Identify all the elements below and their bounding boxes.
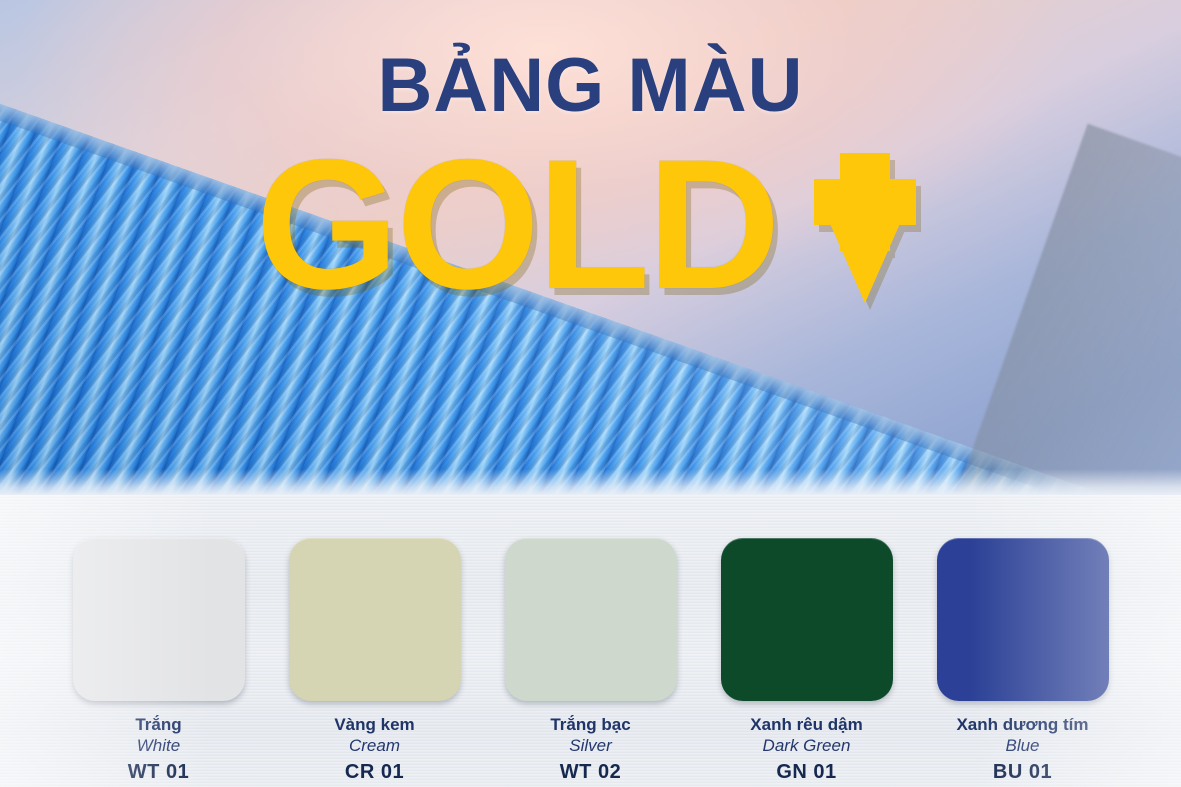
swatch-labels: Vàng kem Cream CR 01: [334, 714, 414, 784]
swatch-item[interactable]: Xanh rêu dậm Dark Green GN 01: [721, 538, 893, 784]
swatch-code: BU 01: [956, 761, 1088, 784]
swatch-panel: Trắng White WT 01 Vàng kem Cream CR 01 T…: [0, 495, 1181, 787]
color-chip[interactable]: [721, 538, 893, 701]
swatch-labels: Trắng bạc Silver WT 02: [550, 714, 630, 784]
swatch-code: WT 02: [550, 761, 630, 784]
color-chip[interactable]: [289, 538, 461, 701]
swatch-name-vi: Xanh dương tím: [956, 714, 1088, 735]
swatch-name-en: Blue: [956, 735, 1088, 757]
swatch-name-vi: Trắng: [128, 714, 189, 735]
swatch-name-en: Silver: [550, 735, 630, 757]
brand-title-row: GOLD: [0, 140, 1181, 310]
color-chip[interactable]: [937, 538, 1109, 701]
hero-bottom-fade: [0, 469, 1181, 495]
swatch-item[interactable]: Trắng White WT 01: [73, 538, 245, 784]
swatch-name-vi: Xanh rêu dậm: [750, 714, 862, 735]
gold-plus-cross-logo-icon: [804, 153, 926, 303]
color-chart-page: BẢNG MÀU GOLD Trắng: [0, 0, 1181, 787]
swatch-item[interactable]: Trắng bạc Silver WT 02: [505, 538, 677, 784]
swatch-labels: Trắng White WT 01: [128, 714, 189, 784]
swatch-name-en: Cream: [334, 735, 414, 757]
swatch-name-en: White: [128, 735, 189, 757]
swatch-code: WT 01: [128, 761, 189, 784]
swatch-name-en: Dark Green: [750, 735, 862, 757]
swatch-labels: Xanh rêu dậm Dark Green GN 01: [750, 714, 862, 784]
swatch-labels: Xanh dương tím Blue BU 01: [956, 714, 1088, 784]
swatch-name-vi: Vàng kem: [334, 714, 414, 735]
swatch-list: Trắng White WT 01 Vàng kem Cream CR 01 T…: [0, 495, 1181, 787]
swatch-code: GN 01: [750, 761, 862, 784]
swatch-item[interactable]: Vàng kem Cream CR 01: [289, 538, 461, 784]
swatch-item[interactable]: Xanh dương tím Blue BU 01: [937, 538, 1109, 784]
swatch-name-vi: Trắng bạc: [550, 714, 630, 735]
page-title: BẢNG MÀU: [0, 48, 1181, 124]
color-chip[interactable]: [505, 538, 677, 701]
brand-name: GOLD: [255, 140, 777, 310]
color-chip[interactable]: [73, 538, 245, 701]
swatch-code: CR 01: [334, 761, 414, 784]
